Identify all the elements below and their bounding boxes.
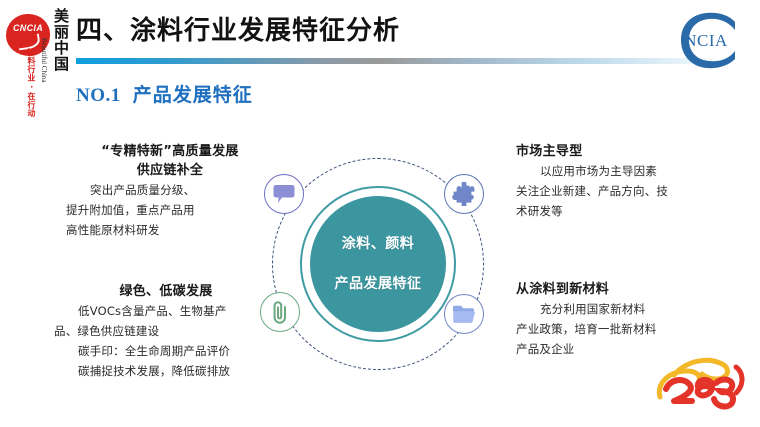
diagram-node-puzzle[interactable]	[444, 174, 484, 214]
section-subtitle: NO.1产品发展特征	[76, 80, 253, 107]
body-line-2: 产业政策，培育一批新材料	[516, 319, 730, 339]
brand-name-cn: 美丽中国	[50, 8, 68, 72]
product-feature-diagram: 涂料、颜料 产品发展特征	[246, 152, 514, 380]
body-line-1: 以应用市场为主导因素	[516, 161, 730, 181]
block-heading: 绿色、低碳发展	[54, 282, 278, 301]
puzzle-piece-icon	[452, 182, 476, 206]
title-divider	[76, 58, 724, 64]
ncia-logo: NCIA	[674, 10, 746, 72]
year-2023-calligraphy-icon	[640, 353, 756, 421]
body-line-3: 术研发等	[516, 201, 730, 221]
heading-line-1: “专精特新”高质量发展	[101, 144, 238, 159]
body-line-2: 提升附加值，重点产品用	[66, 200, 274, 220]
core-label-line1: 涂料、颜料	[342, 235, 415, 253]
text-block-bottom-right: 从涂料到新材料 充分利用国家新材料 产业政策，培育一批新材料 产品及企业	[516, 280, 730, 359]
diagram-node-folder[interactable]	[444, 294, 484, 334]
subtitle-number: NO.1	[76, 85, 121, 106]
heading-line-2: 供应链补全	[137, 163, 204, 178]
page-title: 四、涂料行业发展特征分析	[76, 16, 400, 46]
block-body: 突出产品质量分级、 提升附加值，重点产品用 高性能原材料研发	[66, 180, 274, 240]
block-body: 充分利用国家新材料 产业政策，培育一批新材料 产品及企业	[516, 299, 730, 359]
text-block-top-left: “专精特新”高质量发展 供应链补全 突出产品质量分级、 提升附加值，重点产品用 …	[66, 142, 274, 240]
core-label-line2: 产品发展特征	[335, 275, 422, 293]
block-body: 以应用市场为主导因素 关注企业新建、产品方向、技 术研发等	[516, 161, 730, 221]
text-block-bottom-left: 绿色、低碳发展 低VOCs含量产品、生物基产 品、绿色供应链建设 碳手印：全生命…	[54, 282, 278, 381]
body-line-1: 低VOCs含量产品、生物基产	[54, 301, 278, 321]
block-heading: 市场主导型	[516, 142, 730, 161]
folder-icon	[452, 304, 476, 324]
block-heading: 从涂料到新材料	[516, 280, 730, 299]
brand-slogan-cn: 涂料行业 · 在行动	[27, 48, 36, 118]
body-line-1: 突出产品质量分级、	[66, 180, 274, 200]
body-line-2: 品、绿色供应链建设	[54, 321, 278, 341]
body-line-3: 碳手印：全生命周期产品评价	[54, 341, 278, 361]
subtitle-label: 产品发展特征	[133, 84, 253, 106]
body-line-3: 高性能原材料研发	[66, 220, 274, 240]
brand-logo: CNCIA 美丽中国 Beautiful China 涂料行业 · 在行动	[6, 8, 68, 120]
block-heading: “专精特新”高质量发展 供应链补全	[66, 142, 274, 180]
cncia-badge-text: CNCIA	[8, 23, 48, 33]
body-line-2: 关注企业新建、产品方向、技	[516, 181, 730, 201]
year-decoration	[640, 353, 756, 421]
speech-bubble-icon	[273, 184, 295, 204]
diagram-core-circle: 涂料、颜料 产品发展特征	[306, 192, 450, 336]
block-body: 低VOCs含量产品、生物基产 品、绿色供应链建设 碳手印：全生命周期产品评价 碳…	[54, 301, 278, 381]
body-line-4: 碳捕捉技术发展，降低碳排放	[54, 361, 278, 381]
svg-text:NCIA: NCIA	[684, 31, 728, 50]
body-line-1: 充分利用国家新材料	[516, 299, 730, 319]
brand-name-en: Beautiful China	[40, 38, 47, 83]
text-block-top-right: 市场主导型 以应用市场为主导因素 关注企业新建、产品方向、技 术研发等	[516, 142, 730, 221]
ncia-logo-mark-icon: NCIA	[674, 10, 746, 72]
